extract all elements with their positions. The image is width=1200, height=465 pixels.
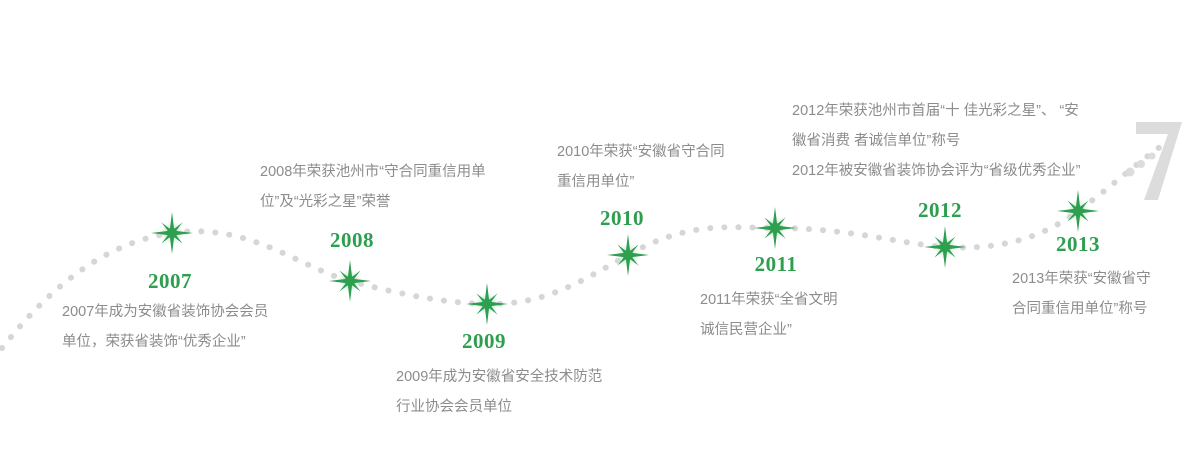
year-label-2012: 2012 bbox=[918, 198, 962, 223]
year-label-2011: 2011 bbox=[755, 252, 798, 277]
description-line: 2010年荣获“安徽省守合同 bbox=[557, 137, 725, 167]
description-line: 诚信民营企业” bbox=[700, 315, 838, 345]
milestone-description-2012: 2012年荣获池州市首届“十 佳光彩之星”、 “安徽省消费 者诚信单位”称号20… bbox=[792, 96, 1080, 186]
description-line: 2011年荣获“全省文明 bbox=[700, 285, 838, 315]
description-line: 位”及“光彩之星”荣誉 bbox=[260, 187, 486, 217]
milestone-description-2011: 2011年荣获“全省文明诚信民营企业” bbox=[700, 285, 838, 345]
description-line: 徽省消费 者诚信单位”称号 bbox=[792, 126, 1080, 156]
milestone-node-2011[interactable] bbox=[752, 205, 798, 251]
starburst-icon bbox=[327, 258, 373, 304]
milestone-description-2008: 2008年荣获池州市“守合同重信用单位”及“光彩之星”荣誉 bbox=[260, 157, 486, 217]
description-line: 2012年被安徽省装饰协会评为“省级优秀企业” bbox=[792, 156, 1080, 186]
description-line: 2013年荣获“安徽省守 bbox=[1012, 264, 1151, 294]
description-line: 2009年成为安徽省安全技术防范 bbox=[396, 362, 602, 392]
description-line: 2012年荣获池州市首届“十 佳光彩之星”、 “安 bbox=[792, 96, 1080, 126]
year-label-2009: 2009 bbox=[462, 329, 506, 354]
milestone-node-2013[interactable] bbox=[1055, 188, 1101, 234]
milestone-description-2010: 2010年荣获“安徽省守合同重信用单位” bbox=[557, 137, 725, 197]
milestone-description-2007: 2007年成为安徽省装饰协会会员单位，荣获省装饰“优秀企业” bbox=[62, 297, 268, 357]
description-line: 行业协会会员单位 bbox=[396, 392, 602, 422]
starburst-icon bbox=[922, 224, 968, 270]
year-label-2013: 2013 bbox=[1056, 232, 1100, 257]
description-line: 2007年成为安徽省装饰协会会员 bbox=[62, 297, 268, 327]
milestone-node-2012[interactable] bbox=[922, 224, 968, 270]
starburst-icon bbox=[149, 210, 195, 256]
milestone-node-2008[interactable] bbox=[327, 258, 373, 304]
description-line: 重信用单位” bbox=[557, 167, 725, 197]
year-label-2007: 2007 bbox=[148, 269, 192, 294]
starburst-icon bbox=[1055, 188, 1101, 234]
milestone-description-2013: 2013年荣获“安徽省守合同重信用单位”称号 bbox=[1012, 264, 1151, 324]
starburst-icon bbox=[752, 205, 798, 251]
year-label-2010: 2010 bbox=[600, 206, 644, 231]
description-line: 单位，荣获省装饰“优秀企业” bbox=[62, 327, 268, 357]
timeline-infographic: 2007200820092010201120122013 2007年成为安徽省装… bbox=[0, 0, 1200, 465]
description-line: 2008年荣获池州市“守合同重信用单 bbox=[260, 157, 486, 187]
milestone-node-2009[interactable] bbox=[464, 281, 510, 327]
description-line: 合同重信用单位”称号 bbox=[1012, 294, 1151, 324]
year-label-2008: 2008 bbox=[330, 228, 374, 253]
milestone-description-2009: 2009年成为安徽省安全技术防范行业协会会员单位 bbox=[396, 362, 602, 422]
milestone-node-2010[interactable] bbox=[605, 232, 651, 278]
starburst-icon bbox=[605, 232, 651, 278]
starburst-icon bbox=[464, 281, 510, 327]
milestone-node-2007[interactable] bbox=[149, 210, 195, 256]
